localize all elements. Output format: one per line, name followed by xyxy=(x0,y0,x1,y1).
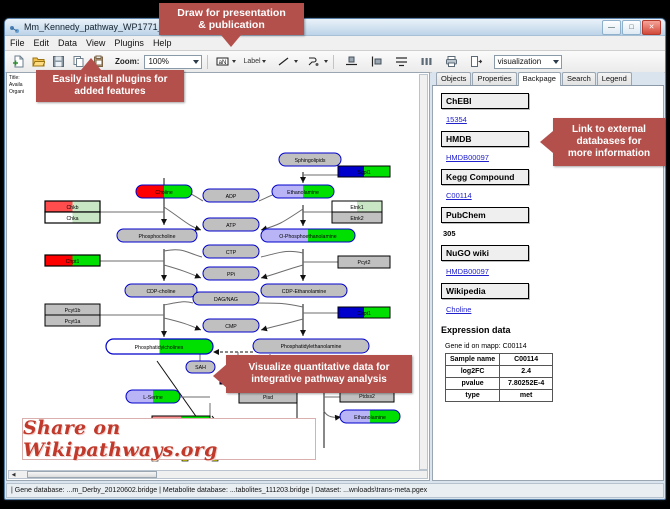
toolbar-separator xyxy=(333,55,334,69)
callout-plugins-line1: Easily install plugins for xyxy=(52,74,167,86)
zoom-combo[interactable]: 100% xyxy=(144,55,202,69)
callout-links-line3: more information xyxy=(568,148,650,160)
gene-box-chka: Chka xyxy=(45,212,100,223)
menu-edit[interactable]: Edit xyxy=(34,38,50,48)
scroll-thumb[interactable] xyxy=(27,471,157,478)
tab-objects[interactable]: Objects xyxy=(436,72,471,85)
db-header-nugowiki: NuGO wiki xyxy=(441,245,529,261)
callout-plugins-arrow-icon xyxy=(81,58,101,70)
menu-plugins[interactable]: Plugins xyxy=(114,38,144,48)
svg-text:Sphingolipids: Sphingolipids xyxy=(295,158,326,164)
callout-visualize-line2: integrative pathway analysis xyxy=(251,374,387,386)
side-tab-strip: Objects Properties Backpage Search Legen… xyxy=(432,72,664,86)
open-folder-icon[interactable] xyxy=(29,53,47,71)
callout-share-text: Share on Wikipathways.org xyxy=(23,417,315,461)
toolbar-separator xyxy=(207,55,208,69)
datanode-icon[interactable]: aN xyxy=(213,53,231,71)
minimize-button[interactable]: — xyxy=(602,20,621,35)
callout-draw-line2: & publication xyxy=(198,19,265,31)
callout-visualize-line1: Visualize quantitative data for xyxy=(249,362,390,374)
line-icon[interactable] xyxy=(275,53,293,71)
distribute-icon[interactable] xyxy=(418,53,436,71)
label-tool[interactable]: Label xyxy=(243,58,265,65)
callout-links-line1: Link to external xyxy=(572,124,646,136)
metabolite-node-ethanolamine-top: Ethanolamine xyxy=(272,185,334,198)
svg-text:ADP: ADP xyxy=(226,194,237,200)
svg-text:L-Serine: L-Serine xyxy=(143,395,163,401)
metabolite-node-o-phosphoethanolamine: O-Phosphoethanolamine xyxy=(261,229,355,242)
gene-box-chpt1: Chpt1 xyxy=(45,255,100,266)
exp-label-sample: Sample name xyxy=(446,354,500,366)
metabolite-node-dag-nag: DAG/NAG xyxy=(193,292,259,305)
svg-text:Etnk1: Etnk1 xyxy=(350,205,363,211)
expression-gene-id: Gene id on mapp: C00114 xyxy=(445,343,663,350)
svg-text:Chpt1: Chpt1 xyxy=(66,259,80,265)
menu-file[interactable]: File xyxy=(10,38,25,48)
metabolite-node-ctp: CTP xyxy=(203,245,259,258)
exp-label-pvalue: pvalue xyxy=(446,378,500,390)
metabolite-node-cdp-ethanolamine: CDP-Ethanolamine xyxy=(261,284,347,297)
callout-plugins: Easily install plugins for added feature… xyxy=(36,70,184,102)
gene-box-etnk1: Etnk1 xyxy=(332,201,382,212)
metabolite-node-atp: ATP xyxy=(203,218,259,231)
callout-links-arrow-icon xyxy=(540,131,553,153)
gene-box-chkb: Chkb xyxy=(45,201,100,212)
chevron-down-icon xyxy=(324,60,328,63)
svg-text:Choline: Choline xyxy=(155,190,173,196)
chevron-down-icon xyxy=(553,60,559,64)
metabolite-node-phosphocholine: Phosphocholine xyxy=(117,229,197,242)
svg-text:CDP-choline: CDP-choline xyxy=(146,289,175,295)
db-link-wikipedia[interactable]: Choline xyxy=(446,305,471,314)
expression-table: Sample name C00114 log2FC 2.4 pvalue 7.8… xyxy=(445,353,553,402)
svg-text:Chka: Chka xyxy=(66,216,78,222)
chevron-down-icon xyxy=(262,60,266,63)
table-row: Sample name C00114 xyxy=(446,354,553,366)
tab-properties[interactable]: Properties xyxy=(472,72,516,85)
app-logo-icon xyxy=(9,22,20,33)
callout-share: Share on Wikipathways.org xyxy=(22,418,316,460)
save-icon[interactable] xyxy=(49,53,67,71)
metabolite-node-cdp-choline: CDP-choline xyxy=(125,284,197,297)
visualization-combo[interactable]: visualization xyxy=(494,55,562,69)
chevron-down-icon xyxy=(294,60,298,63)
print-icon[interactable] xyxy=(443,53,461,71)
visualization-value: visualization xyxy=(498,57,542,66)
align-bottom-icon[interactable] xyxy=(343,53,361,71)
exp-label-log2fc: log2FC xyxy=(446,366,500,378)
line-tool[interactable] xyxy=(275,53,298,71)
svg-text:Pcyt1b: Pcyt1b xyxy=(65,308,81,314)
metabolite-node-phosphatidylethanolamine: Phosphatidylethanolamine xyxy=(253,339,369,353)
tab-search[interactable]: Search xyxy=(562,72,596,85)
svg-text:DAG/NAG: DAG/NAG xyxy=(214,297,238,303)
tab-backpage[interactable]: Backpage xyxy=(518,72,561,86)
export-icon[interactable] xyxy=(468,53,486,71)
callout-links-line2: databases for xyxy=(576,136,641,148)
metabolite-node-phosphatidylcholines: Phosphatidylcholines xyxy=(106,339,213,354)
canvas-horizontal-scrollbar[interactable]: ◀ xyxy=(8,470,428,479)
expression-heading: Expression data xyxy=(441,325,663,335)
status-text: | Gene database: ...m_Derby_20120602.bri… xyxy=(11,487,427,494)
table-row: log2FC 2.4 xyxy=(446,366,553,378)
callout-visualize: Visualize quantitative data for integrat… xyxy=(226,355,412,393)
new-file-icon[interactable] xyxy=(9,53,27,71)
db-link-nugowiki[interactable]: HMDB00097 xyxy=(446,267,489,276)
svg-text:Pcyt1a: Pcyt1a xyxy=(65,319,81,325)
datanode-tool[interactable]: aN xyxy=(213,53,236,71)
svg-text:CTP: CTP xyxy=(226,250,237,256)
exp-value-pvalue: 7.80252E-4 xyxy=(500,378,553,390)
window-controls: — □ ✕ xyxy=(602,20,661,35)
menu-view[interactable]: View xyxy=(86,38,105,48)
callout-draw: Draw for presentation & publication xyxy=(159,3,304,35)
db-header-pubchem: PubChem xyxy=(441,207,529,223)
callout-links: Link to external databases for more info… xyxy=(553,118,665,166)
svg-text:Sgpl1: Sgpl1 xyxy=(357,170,370,176)
svg-text:Pisd: Pisd xyxy=(263,395,273,401)
anchor-tool[interactable] xyxy=(305,53,328,71)
db-link-kegg[interactable]: C00114 xyxy=(446,191,472,200)
metabolite-node-sphingolipids: Sphingolipids xyxy=(279,153,341,166)
menu-data[interactable]: Data xyxy=(58,38,77,48)
svg-text:SAH: SAH xyxy=(195,365,206,371)
svg-text:Phosphocholine: Phosphocholine xyxy=(139,234,176,240)
db-header-wikipedia: Wikipedia xyxy=(441,283,529,299)
db-link-chebi[interactable]: 15354 xyxy=(446,115,467,124)
svg-text:CMP: CMP xyxy=(225,324,237,330)
title-bar: Mm_Kennedy_pathway_WP1771_45176.gpml — □… xyxy=(5,19,665,36)
svg-text:Pcyt2: Pcyt2 xyxy=(358,260,371,266)
gene-box-pcyt2: Pcyt2 xyxy=(338,256,390,268)
gene-box-pcyt1b: Pcyt1b xyxy=(45,304,100,315)
metabolite-node-l-serine-left: L-Serine xyxy=(126,390,180,403)
align-left-icon[interactable] xyxy=(368,53,386,71)
svg-text:ATP: ATP xyxy=(226,223,236,229)
gene-box-etnk2: Etnk2 xyxy=(332,212,382,223)
metabolite-node-ethanolamine-bottom: Ethanolamine xyxy=(340,410,400,423)
svg-text:Phosphatidylcholines: Phosphatidylcholines xyxy=(135,345,184,351)
zoom-label: Zoom: xyxy=(115,57,139,66)
anchor-icon[interactable] xyxy=(305,53,323,71)
gene-box-cept1: Cept1 xyxy=(338,307,390,318)
maximize-button[interactable]: □ xyxy=(622,20,641,35)
callout-draw-arrow-icon xyxy=(221,35,241,47)
menu-help[interactable]: Help xyxy=(153,38,172,48)
zoom-value: 100% xyxy=(148,57,168,66)
gene-box-sgpl1: Sgpl1 xyxy=(338,166,390,177)
callout-visualize-arrow-icon xyxy=(213,363,228,389)
svg-text:aN: aN xyxy=(219,60,227,66)
status-bar: | Gene database: ...m_Derby_20120602.bri… xyxy=(6,483,664,498)
svg-text:Cept1: Cept1 xyxy=(357,311,371,317)
table-row: pvalue 7.80252E-4 xyxy=(446,378,553,390)
svg-text:CDP-Ethanolamine: CDP-Ethanolamine xyxy=(282,289,327,295)
screenshot-root: Mm_Kennedy_pathway_WP1771_45176.gpml — □… xyxy=(0,0,670,509)
close-button[interactable]: ✕ xyxy=(642,20,661,35)
svg-text:O-Phosphoethanolamine: O-Phosphoethanolamine xyxy=(279,234,337,240)
gene-box-pcyt1a: Pcyt1a xyxy=(45,315,100,326)
svg-text:Ptdss2: Ptdss2 xyxy=(359,394,375,400)
callout-plugins-line2: added features xyxy=(74,86,145,98)
exp-label-type: type xyxy=(446,390,500,402)
chevron-down-icon xyxy=(193,60,199,64)
exp-value-type: met xyxy=(500,390,553,402)
exp-value-sample: C00114 xyxy=(500,354,553,366)
callout-draw-line1: Draw for presentation xyxy=(177,7,286,19)
metabolite-node-ppi: PPi xyxy=(203,267,259,280)
exp-value-log2fc: 2.4 xyxy=(500,366,553,378)
metabolite-node-sah: SAH xyxy=(186,361,215,373)
metabolite-node-adp: ADP xyxy=(203,189,259,202)
metabolite-node-choline-top: Choline xyxy=(136,185,192,198)
menu-bar: File Edit Data View Plugins Help xyxy=(5,36,665,51)
canvas-vertical-scrollbar[interactable] xyxy=(419,74,428,470)
tab-legend[interactable]: Legend xyxy=(597,72,632,85)
db-header-hmdb: HMDB xyxy=(441,131,529,147)
db-header-kegg: Kegg Compound xyxy=(441,169,529,185)
scroll-left-icon[interactable]: ◀ xyxy=(9,471,18,478)
svg-text:PPi: PPi xyxy=(227,272,235,278)
label-tool-text: Label xyxy=(243,58,260,65)
db-link-hmdb[interactable]: HMDB00097 xyxy=(446,153,489,162)
chevron-down-icon xyxy=(232,60,236,63)
table-row: type met xyxy=(446,390,553,402)
svg-text:Ethanolamine: Ethanolamine xyxy=(354,415,386,421)
metabolite-node-cmp: CMP xyxy=(203,319,259,332)
svg-text:Ethanolamine: Ethanolamine xyxy=(287,190,319,196)
stack-vertical-icon[interactable] xyxy=(393,53,411,71)
svg-text:Chkb: Chkb xyxy=(66,205,78,211)
db-value-pubchem: 305 xyxy=(443,229,456,238)
db-header-chebi: ChEBI xyxy=(441,93,529,109)
svg-text:Phosphatidylethanolamine: Phosphatidylethanolamine xyxy=(281,344,342,350)
svg-text:Etnk2: Etnk2 xyxy=(350,216,363,222)
